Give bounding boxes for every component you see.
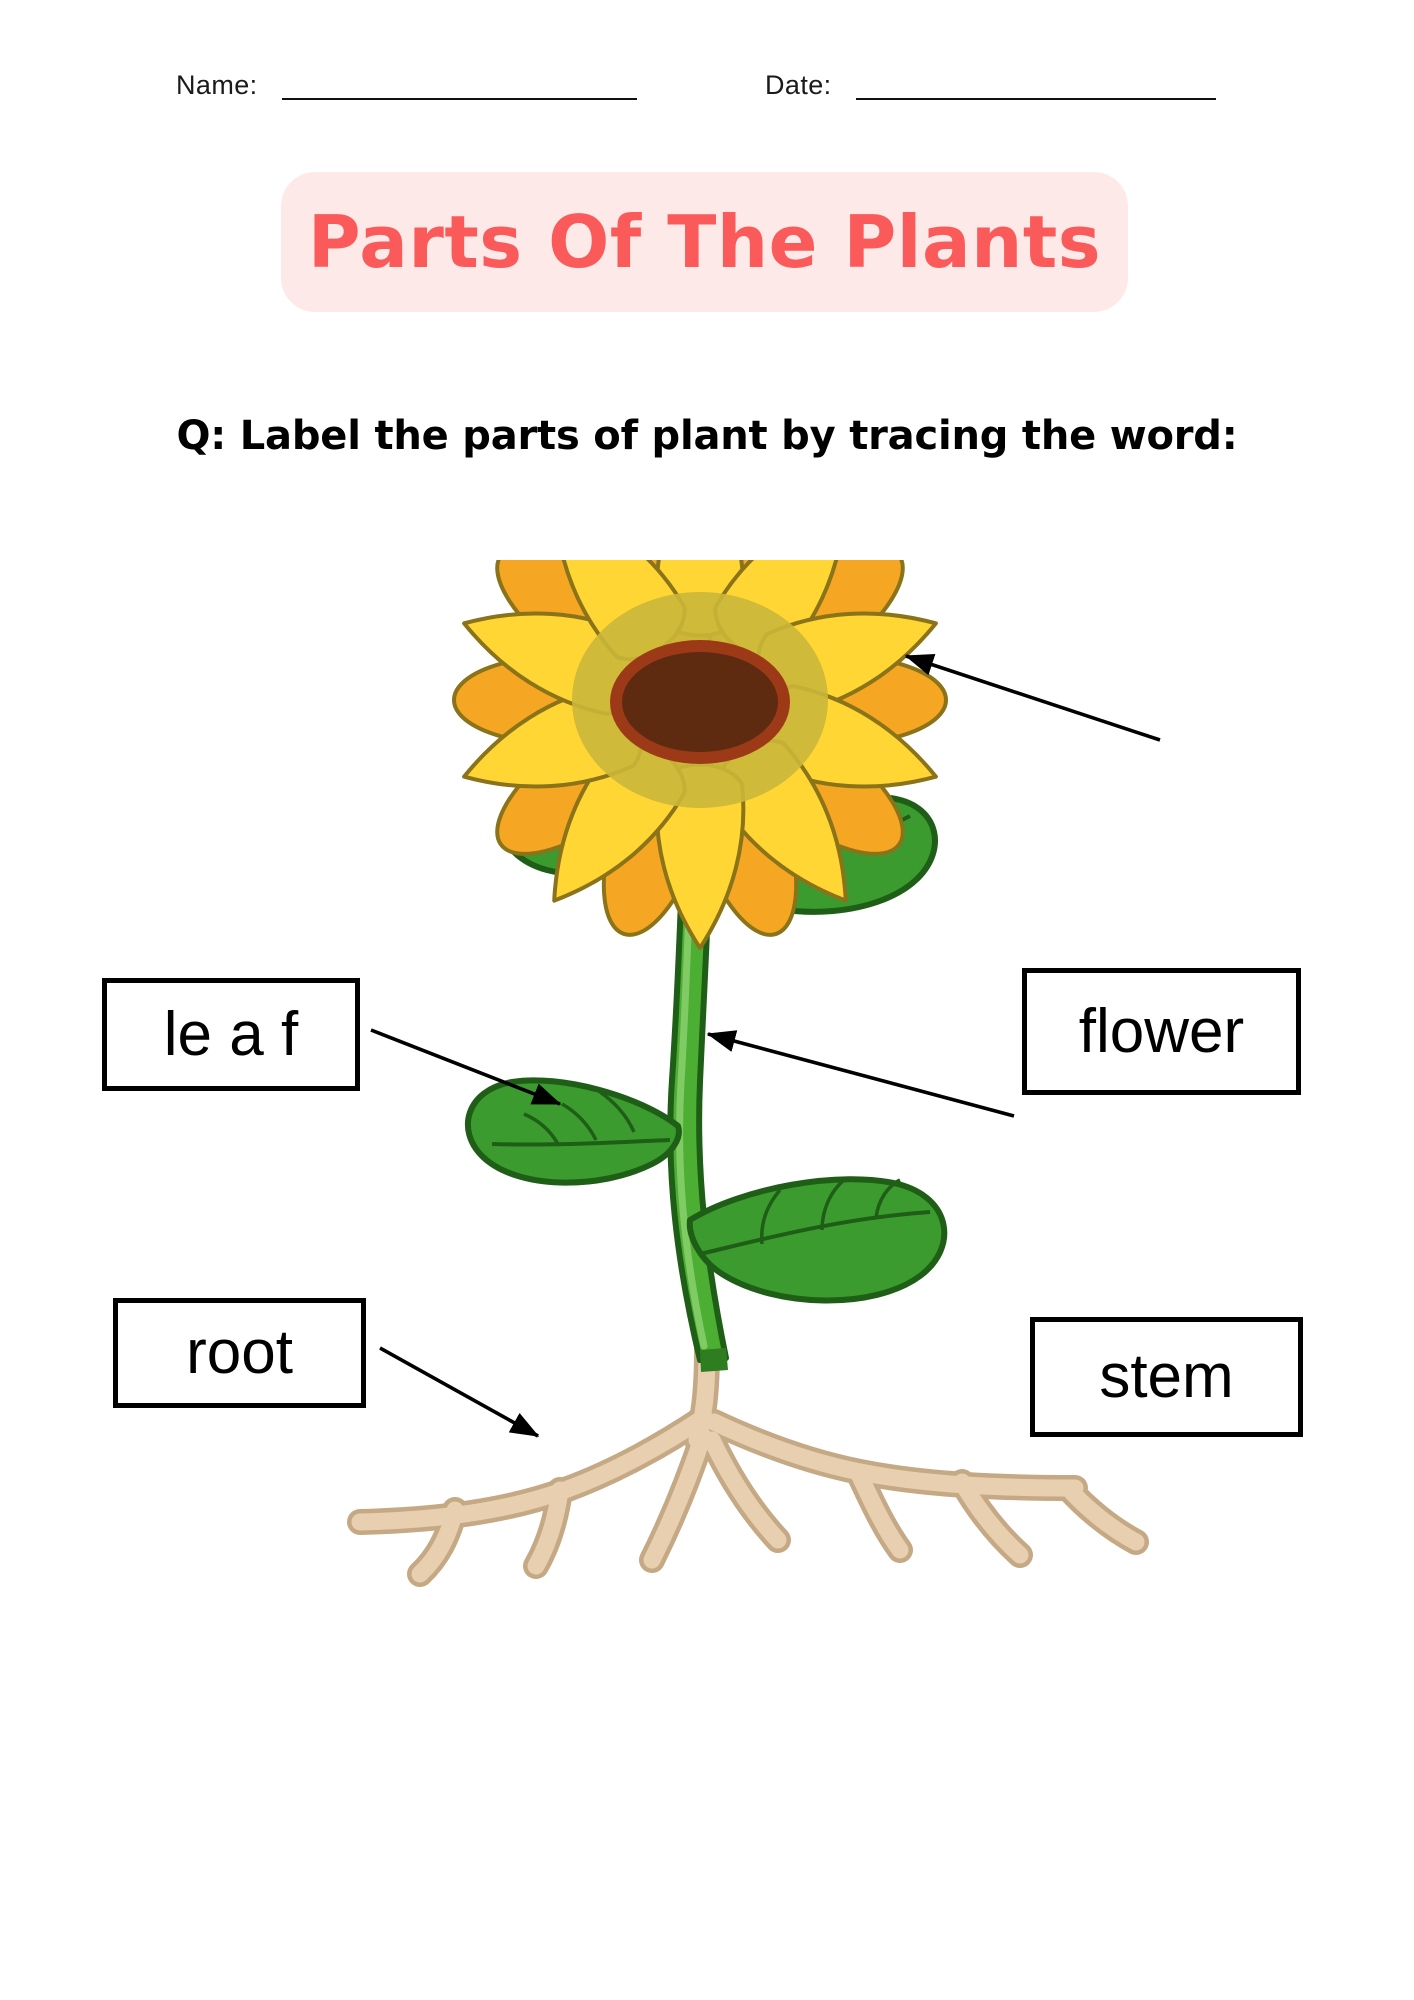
page-title: Parts Of The Plants [308, 204, 1101, 280]
question-prompt: Q: Label the parts of plant by tracing t… [0, 410, 1414, 462]
title-banner: Parts Of The Plants [281, 172, 1128, 312]
label-box-flower[interactable]: flower [1022, 968, 1301, 1095]
worksheet-header: Name: Date: [0, 58, 1414, 104]
date-write-line[interactable] [856, 98, 1216, 100]
label-text-flower: flower [1079, 999, 1244, 1065]
label-text-stem: stem [1099, 1344, 1233, 1410]
name-field-group: Name: [176, 58, 637, 104]
root-system [360, 1350, 1136, 1574]
arrow-to-leaf [371, 1030, 560, 1104]
label-text-leaf: le a f [164, 1002, 298, 1068]
flower-center [622, 652, 778, 752]
label-text-root: root [186, 1320, 293, 1386]
label-box-stem[interactable]: stem [1030, 1317, 1303, 1437]
date-field-group: Date: [765, 58, 1216, 104]
label-box-root[interactable]: root [113, 1298, 366, 1408]
plant-diagram [0, 560, 1414, 1640]
label-box-leaf[interactable]: le a f [102, 978, 360, 1091]
arrow-to-root [380, 1348, 538, 1436]
leaf-mid-left [468, 1080, 679, 1182]
name-write-line[interactable] [282, 98, 637, 100]
date-label: Date: [765, 70, 832, 104]
name-label: Name: [176, 70, 258, 104]
arrow-to-stem [708, 1034, 1014, 1116]
leaf-lower-right [690, 1179, 945, 1300]
